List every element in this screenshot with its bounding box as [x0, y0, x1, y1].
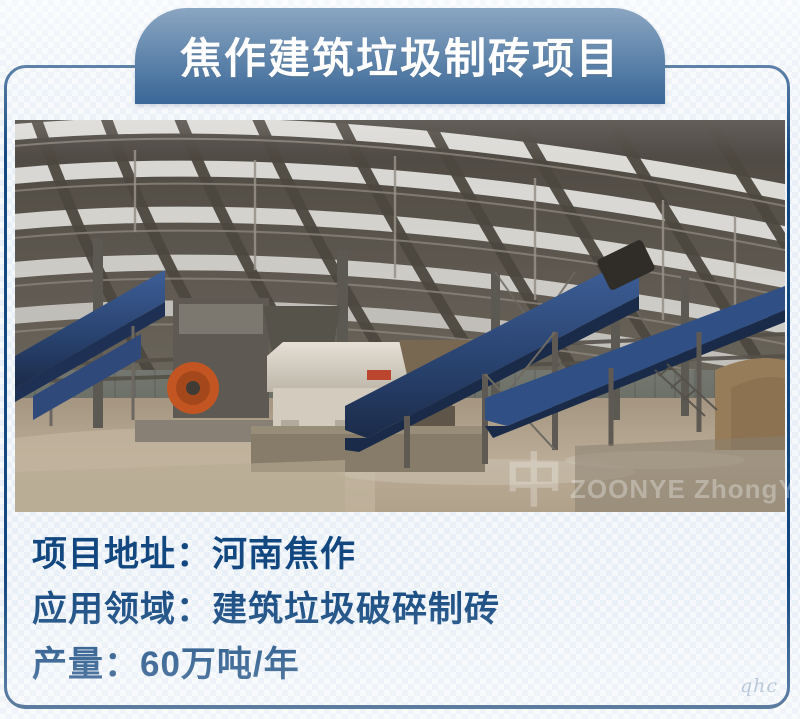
project-poster: 焦作建筑垃圾制砖项目: [0, 0, 800, 719]
caption-line-application: 应用领域：建筑垃圾破碎制砖: [32, 582, 732, 637]
caption-block: 项目地址：河南焦作 应用领域：建筑垃圾破碎制砖 产量：60万吨/年: [32, 527, 732, 692]
project-photo: [15, 120, 785, 512]
caption-line-address: 项目地址：河南焦作: [32, 527, 732, 582]
signature-watermark: qhc: [740, 675, 778, 697]
page-title: 焦作建筑垃圾制砖项目: [180, 38, 620, 80]
photo-illustration: [15, 120, 785, 512]
title-banner: 焦作建筑垃圾制砖项目: [135, 8, 665, 104]
caption-line-output: 产量：60万吨/年: [32, 637, 732, 692]
